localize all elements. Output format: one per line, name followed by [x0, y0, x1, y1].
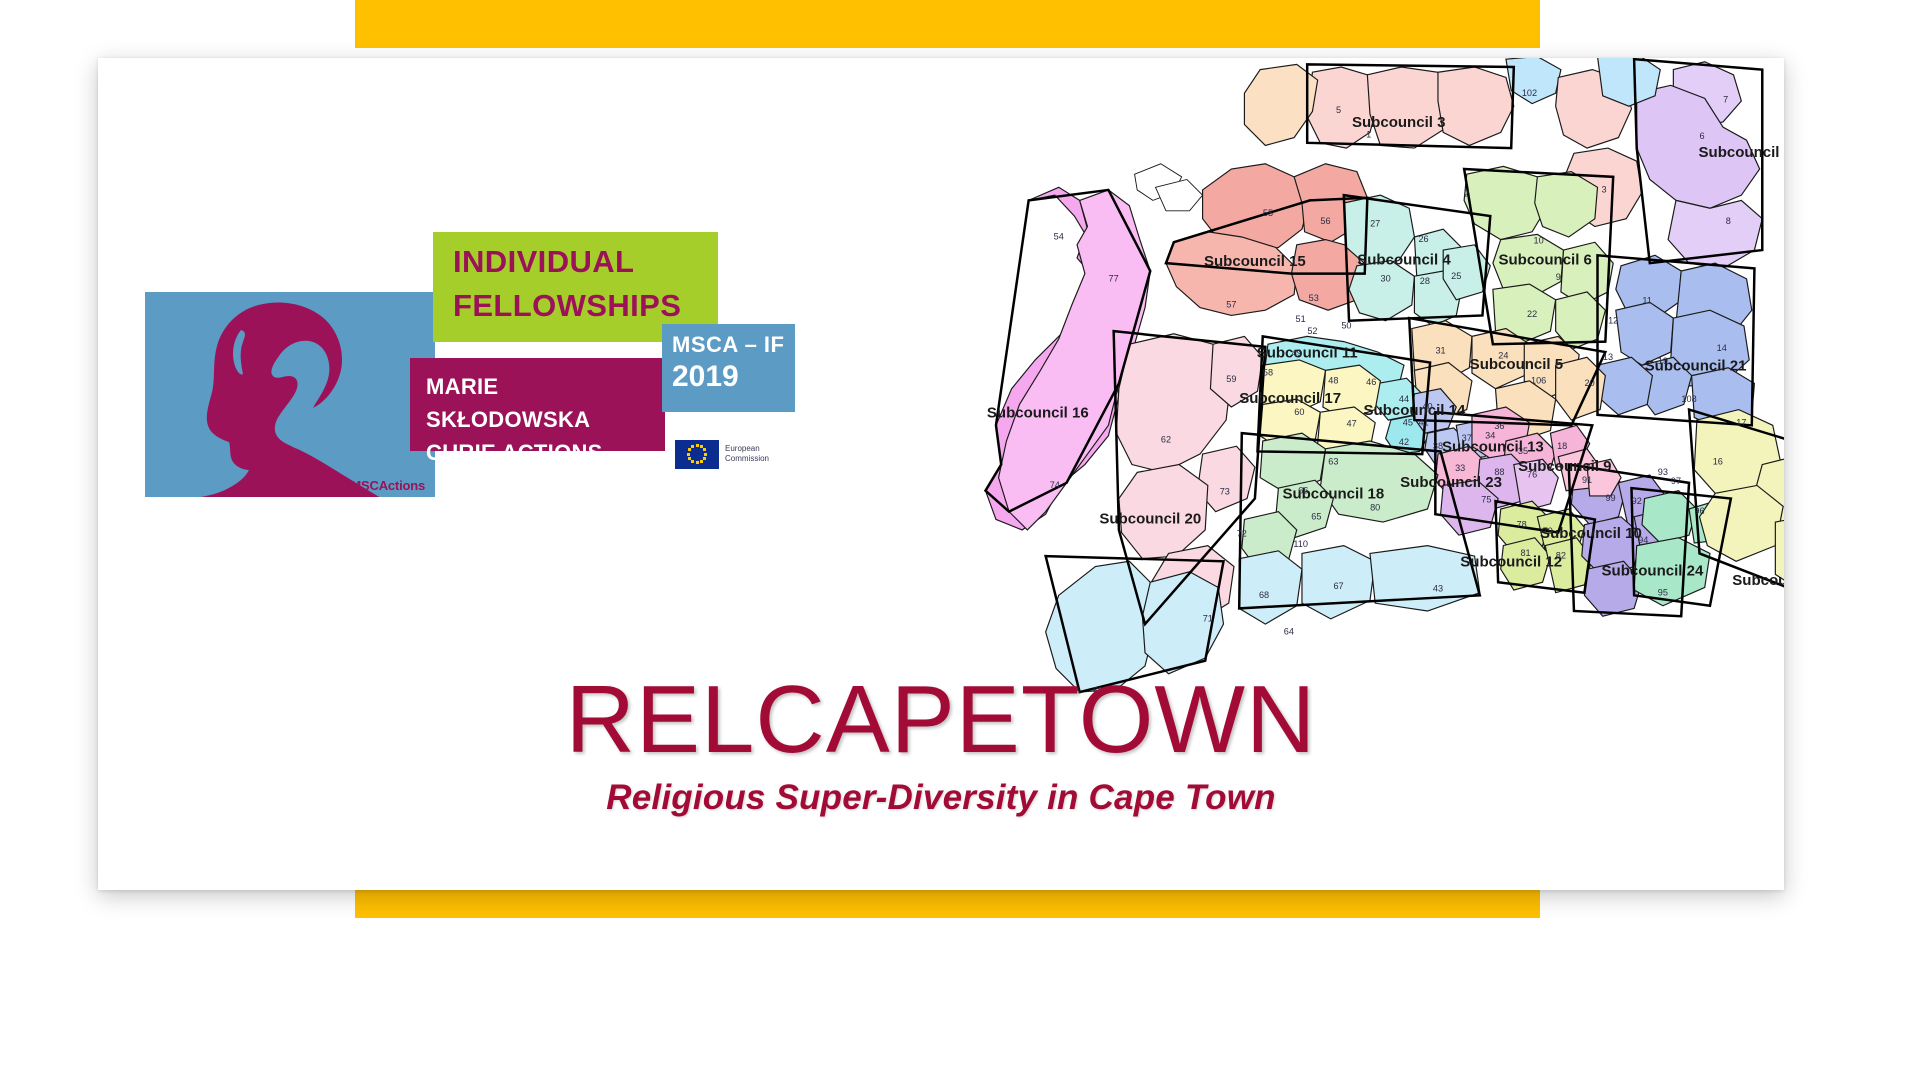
map-ward-number: 65 — [1311, 511, 1321, 521]
map-ward-number: 99 — [1605, 493, 1615, 503]
map-ward-number: 14 — [1717, 343, 1727, 353]
map-ward-number: 92 — [1632, 496, 1642, 506]
map-ward-number: 52 — [1307, 326, 1317, 336]
map-ward-number: 44 — [1399, 394, 1409, 404]
green-line-2: FELLOWSHIPS — [433, 284, 718, 328]
map-ward-number: 45 — [1403, 417, 1413, 427]
map-ward-number: 62 — [1161, 434, 1171, 444]
map-subcouncil-label: Subcouncil 22 — [1732, 572, 1784, 589]
map-ward-number: 12 — [1608, 315, 1618, 325]
marie-curie-portrait: @MSCActions — [145, 292, 435, 497]
map-ward-number: 74 — [1050, 480, 1060, 490]
map-ward-number: 56 — [1320, 216, 1330, 226]
map-ward-number: 28 — [1420, 276, 1430, 286]
marie-curie-actions-banner: MARIE SKŁODOWSKA CURIE ACTIONS — [410, 358, 665, 451]
msca-if-label: MSCA – IF — [662, 324, 795, 358]
map-ward-number: 63 — [1328, 457, 1338, 467]
map-subcouncil-label: Subcouncil 24 — [1602, 563, 1704, 580]
msca-if-year-badge: MSCA – IF 2019 — [662, 324, 795, 412]
map-ward-number: 22 — [1527, 309, 1537, 319]
map-ward-number: 41 — [1418, 417, 1428, 427]
magenta-line-2: CURIE ACTIONS — [410, 436, 665, 469]
eu-star-icon — [704, 453, 707, 456]
eu-flag-icon — [675, 440, 719, 469]
map-ward-number: 9 — [1556, 272, 1561, 282]
map-ward-number: 24 — [1498, 351, 1508, 361]
map-ward-number: 106 — [1531, 375, 1546, 385]
map-ward-number: 95 — [1658, 587, 1668, 597]
map-ward-number: 76 — [1527, 470, 1537, 480]
map-ward-number: 50 — [1341, 321, 1351, 331]
map-ward-number: 60 — [1294, 407, 1304, 417]
map-ward-number: 72 — [1237, 528, 1247, 538]
map-ward-number: 8 — [1726, 216, 1731, 226]
map-ward-number: 96 — [1694, 506, 1704, 516]
map-subcouncil-label: Subcouncil 11 — [1257, 344, 1358, 361]
map-ward-number: 57 — [1226, 300, 1236, 310]
map-ward-number: 16 — [1713, 457, 1723, 467]
eu-commission-caption: European Commission — [725, 444, 769, 464]
msca-individual-fellowships-logo: @MSCActions INDIVIDUAL FELLOWSHIPS MARIE… — [145, 232, 835, 497]
map-ward-number: 55 — [1263, 208, 1273, 218]
slide-card: .w { stroke:#1a1a1a; stroke-width:0.9; }… — [98, 58, 1784, 890]
map-ward-number: 3 — [1601, 185, 1606, 195]
map-ward-number: 88 — [1494, 467, 1504, 477]
map-ward-number: 17 — [1736, 417, 1746, 427]
map-ward-number: 20 — [1585, 378, 1595, 388]
map-ward-number: 40 — [1422, 402, 1432, 412]
map-ward-number: 82 — [1556, 551, 1566, 561]
map-ward-number: 67 — [1333, 581, 1343, 591]
map-ward-number: 43 — [1433, 583, 1443, 593]
eu-star-icon — [700, 460, 703, 463]
map-subcouncil-label: Subcouncil 12 — [1460, 554, 1562, 571]
map-ward-number: 77 — [1109, 273, 1119, 283]
map-ward-number: 79 — [1543, 526, 1553, 536]
map-ward-number: 38 — [1433, 441, 1443, 451]
map-ward-number: 10 — [1534, 236, 1544, 246]
map-ward-number: 59 — [1226, 374, 1236, 384]
map-ward-number: 49 — [1292, 348, 1302, 358]
map-ward-number: 5 — [1336, 105, 1341, 115]
eu-caption-line-1: European — [725, 444, 769, 454]
map-ward-number: 31 — [1435, 345, 1445, 355]
map-subcouncil-label: Subcouncil 13 — [1442, 438, 1544, 455]
map-subcouncil-label: Subcouncil 10 — [1540, 525, 1642, 542]
map-ward-number: 30 — [1381, 273, 1391, 283]
map-ward-number: 19 — [1658, 356, 1668, 366]
map-subcouncil-label: Subcouncil 15 — [1204, 253, 1306, 270]
map-ward-number: 18 — [1557, 441, 1567, 451]
map-subcouncil-label: Subcouncil 3 — [1352, 114, 1445, 131]
map-ward-number: 46 — [1366, 377, 1376, 387]
map-subcouncil-label: Subcouncil 6 — [1498, 251, 1591, 268]
map-ward-number: 71 — [1203, 613, 1213, 623]
map-subcouncil-label: Subcouncil 20 — [1099, 510, 1201, 527]
map-subcouncil-label: Subcouncil 5 — [1470, 356, 1563, 373]
eu-star-icon — [696, 461, 699, 464]
map-ward-number: 75 — [1481, 494, 1491, 504]
map-ward-number: 102 — [1522, 88, 1537, 98]
map-ward-number: 33 — [1455, 463, 1465, 473]
map-ward-number: 64 — [1284, 627, 1294, 637]
eu-star-icon — [688, 457, 691, 460]
map-ward-number: 91 — [1582, 475, 1592, 485]
eu-star-icon — [703, 448, 706, 451]
map-ward-number: 2 — [1464, 188, 1469, 198]
map-subcouncil-label: Subcouncil 16 — [987, 404, 1089, 421]
map-ward-number: 13 — [1603, 352, 1613, 362]
msca-year: 2019 — [662, 358, 795, 396]
map-ward-number: 81 — [1520, 548, 1530, 558]
msca-handle-text: @MSCActions — [338, 478, 425, 493]
eu-star-icon — [703, 457, 706, 460]
map-ward-number: 48 — [1328, 375, 1338, 385]
eu-caption-line-2: Commission — [725, 454, 769, 464]
european-commission-logo: European Commission — [675, 434, 810, 474]
map-ward-number: 11 — [1642, 296, 1652, 306]
map-ward-number: 35 — [1518, 446, 1528, 456]
slide-canvas: .w { stroke:#1a1a1a; stroke-width:0.9; }… — [0, 0, 1920, 1080]
map-ward-number: 53 — [1309, 293, 1319, 303]
map-ward-number: 78 — [1517, 519, 1527, 529]
map-subcouncil-label: Subcouncil 4 — [1357, 251, 1451, 268]
map-subcouncil-label: Subcouncil 2 — [1699, 144, 1784, 161]
title-block: RELCAPETOWN Religious Super-Diversity in… — [98, 668, 1784, 824]
map-subcouncil-label: Subcouncil 17 — [1239, 390, 1341, 407]
map-ward-number: 34 — [1485, 430, 1495, 440]
map-ward-number: 54 — [1054, 232, 1064, 242]
map-ward-number: 37 — [1462, 433, 1472, 443]
map-ward-number: 58 — [1263, 368, 1273, 378]
map-ward-number: 80 — [1370, 502, 1380, 512]
map-ward-number: 25 — [1451, 271, 1461, 281]
eu-star-icon — [691, 460, 694, 463]
project-subtitle: Religious Super-Diversity in Cape Town — [98, 772, 1784, 824]
map-ward-number: 51 — [1296, 314, 1306, 324]
map-ward-number: 1 — [1366, 130, 1371, 140]
green-line-1: INDIVIDUAL — [433, 232, 718, 284]
map-ward-number: 47 — [1347, 419, 1357, 429]
map-ward-number: 73 — [1220, 487, 1230, 497]
cape-town-subcouncil-map: .w { stroke:#1a1a1a; stroke-width:0.9; }… — [955, 58, 1784, 713]
map-ward-number: 66 — [1298, 485, 1308, 495]
magenta-line-1: MARIE SKŁODOWSKA — [410, 358, 665, 436]
accent-bar-top — [355, 0, 1540, 48]
eu-star-icon — [687, 453, 690, 456]
map-ward-number: 26 — [1418, 234, 1428, 244]
map-ward-number: 94 — [1638, 535, 1648, 545]
eu-star-icon — [691, 445, 694, 448]
eu-star-icon — [688, 448, 691, 451]
map-ward-number: 68 — [1259, 590, 1269, 600]
eu-star-icon — [696, 444, 699, 447]
map-ward-number: 110 — [1293, 539, 1308, 549]
map-subcouncil-label: Subcouncil 14 — [1364, 402, 1466, 419]
map-ward-number: 36 — [1494, 421, 1504, 431]
project-title: RELCAPETOWN — [98, 668, 1784, 772]
map-ward-number: 7 — [1723, 94, 1728, 104]
map-ward-number: 6 — [1700, 131, 1705, 141]
map-ward-number: 42 — [1399, 437, 1409, 447]
map-ward-number: 97 — [1671, 476, 1681, 486]
map-ward-number: 93 — [1658, 467, 1668, 477]
accent-bar-bottom — [355, 890, 1540, 918]
map-subcouncil-label: Subcouncil 23 — [1400, 474, 1502, 491]
map-ward-number: 108 — [1681, 394, 1696, 404]
map-ward-number: 27 — [1370, 219, 1380, 229]
